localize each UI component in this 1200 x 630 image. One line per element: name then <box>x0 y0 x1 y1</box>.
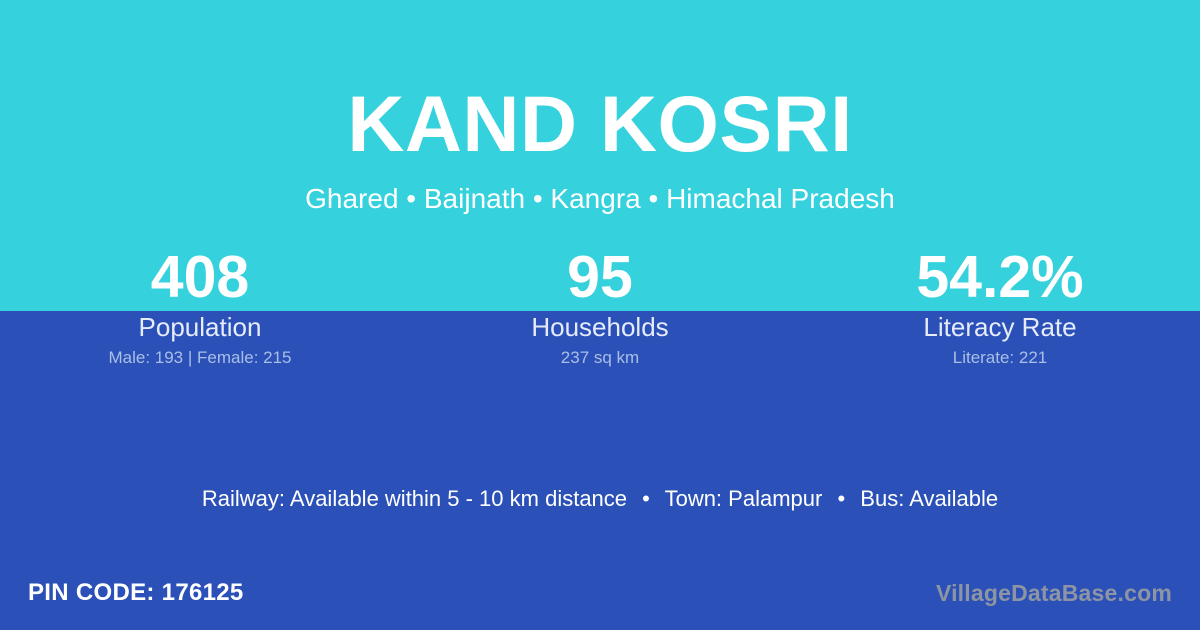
stat-subtext: Male: 193 | Female: 215 <box>0 348 400 368</box>
page-title: KAND KOSRI <box>0 84 1200 163</box>
facility-railway: Railway: Available within 5 - 10 km dist… <box>202 486 627 511</box>
pin-code: PIN CODE: 176125 <box>28 578 244 608</box>
stat-literacy-rate: 54.2% Literacy Rate Literate: 221 <box>800 246 1200 368</box>
stat-subtext: Literate: 221 <box>800 348 1200 368</box>
stat-households: 95 Households 237 sq km <box>400 246 800 368</box>
stat-value: 54.2% <box>800 246 1200 308</box>
facilities-line: Railway: Available within 5 - 10 km dist… <box>0 484 1200 514</box>
stat-label: Households <box>400 312 800 342</box>
stat-value: 95 <box>400 246 800 308</box>
facility-town: Town: Palampur <box>665 486 823 511</box>
stat-value: 408 <box>0 246 400 308</box>
stat-population: 408 Population Male: 193 | Female: 215 <box>0 246 400 368</box>
village-info-card: KAND KOSRI Ghared • Baijnath • Kangra • … <box>0 0 1200 630</box>
breadcrumb: Ghared • Baijnath • Kangra • Himachal Pr… <box>0 182 1200 216</box>
stats-row: 408 Population Male: 193 | Female: 215 9… <box>0 246 1200 368</box>
stat-subtext: 237 sq km <box>400 348 800 368</box>
stat-label: Literacy Rate <box>800 312 1200 342</box>
facility-bus: Bus: Available <box>860 486 998 511</box>
facility-separator: • <box>633 484 659 514</box>
brand-watermark: VillageDataBase.com <box>936 578 1172 608</box>
stat-label: Population <box>0 312 400 342</box>
facility-separator: • <box>828 484 854 514</box>
